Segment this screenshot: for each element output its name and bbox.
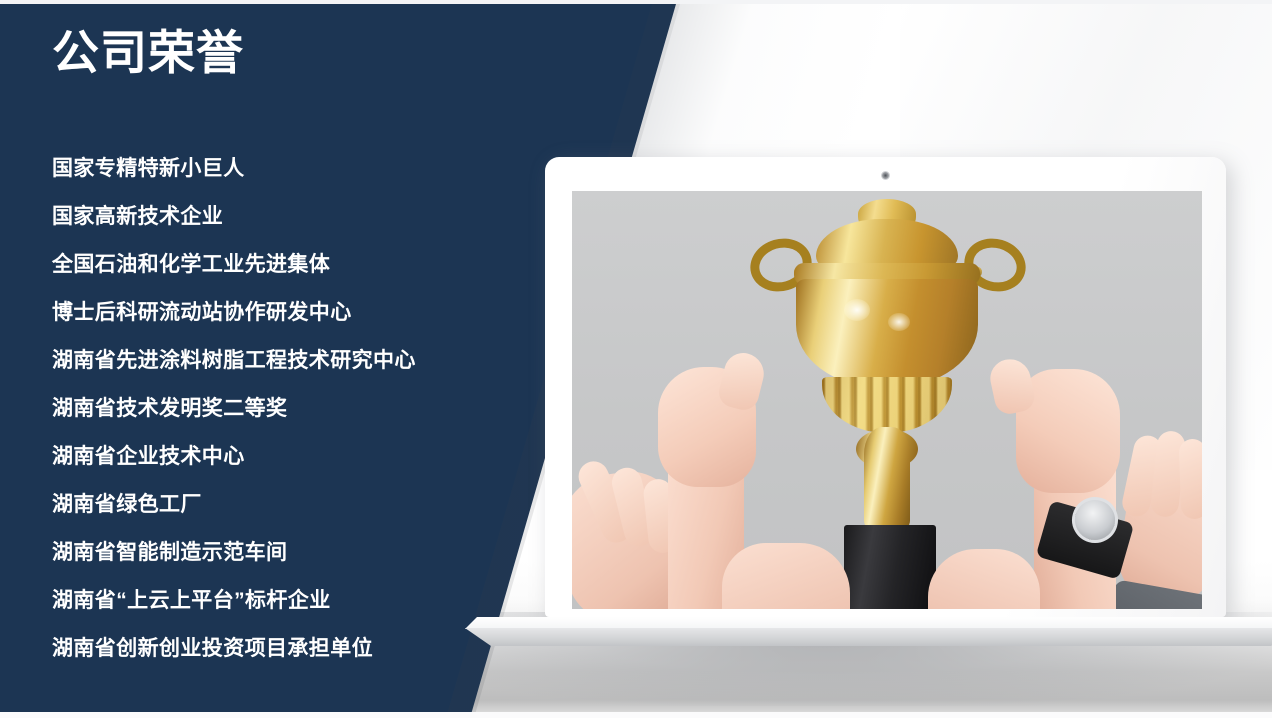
- trophy-base: [844, 525, 936, 609]
- list-item: 国家高新技术企业: [52, 193, 482, 241]
- trophy-highlight: [844, 299, 870, 321]
- bottom-edge-strip: [0, 712, 1272, 718]
- list-item: 湖南省绿色工厂: [52, 481, 482, 529]
- hand-bottom-left: [722, 543, 850, 609]
- laptop-screen: [572, 191, 1202, 609]
- list-item: 博士后科研流动站协作研发中心: [52, 289, 482, 337]
- list-item: 湖南省智能制造示范车间: [52, 529, 482, 577]
- list-item: 湖南省“上云上平台”标杆企业: [52, 577, 482, 625]
- list-item: 湖南省技术发明奖二等奖: [52, 385, 482, 433]
- laptop-base-front: [465, 628, 1272, 646]
- list-item: 湖南省先进涂料树脂工程技术研究中心: [52, 337, 482, 385]
- list-item: 全国石油和化学工业先进集体: [52, 241, 482, 289]
- laptop-lid: [545, 157, 1226, 617]
- webcam-icon: [881, 171, 890, 180]
- trophy-highlight: [888, 313, 910, 331]
- laptop-base: [465, 617, 1272, 647]
- page-title: 公司荣誉: [52, 25, 244, 81]
- trophy-fluted-base: [822, 377, 952, 433]
- trophy-stem: [864, 427, 910, 531]
- list-item: 湖南省创新创业投资项目承担单位: [52, 625, 482, 673]
- laptop-base-top: [465, 617, 1272, 629]
- list-item: 湖南省企业技术中心: [52, 433, 482, 481]
- top-edge-strip: [0, 0, 1272, 4]
- trophy-bowl: [796, 279, 978, 387]
- honors-list: 国家专精特新小巨人 国家高新技术企业 全国石油和化学工业先进集体 博士后科研流动…: [52, 145, 482, 673]
- trophy-photo: [572, 191, 1202, 609]
- list-item: 国家专精特新小巨人: [52, 145, 482, 193]
- slide-canvas: 公司荣誉 国家专精特新小巨人 国家高新技术企业 全国石油和化学工业先进集体 博士…: [0, 0, 1272, 718]
